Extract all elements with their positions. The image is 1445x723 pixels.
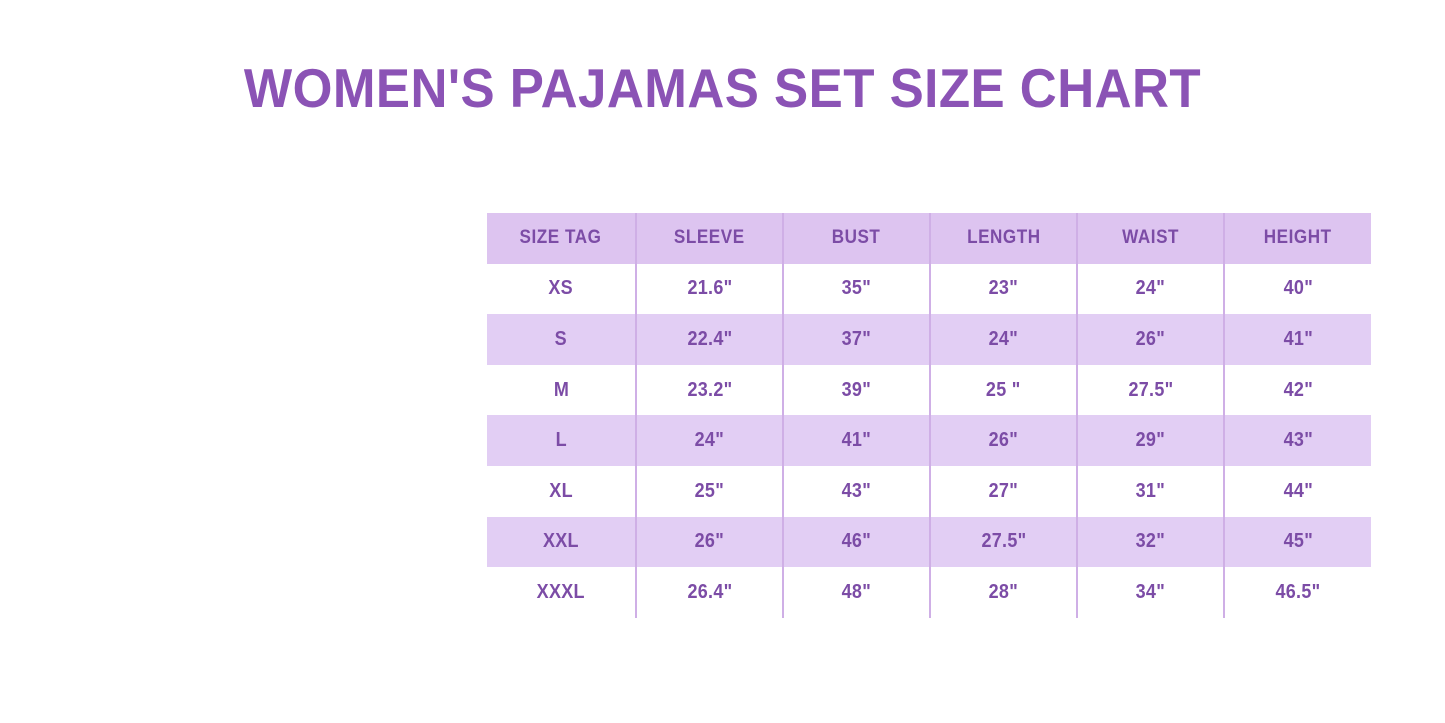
column-header-label: WAIST <box>1122 227 1179 249</box>
cell-bust: 41" <box>783 415 930 466</box>
size-chart-table: SIZE TAG SLEEVE BUST LENGTH WAIST HEIGHT… <box>487 213 1371 618</box>
cell-value: 39" <box>842 379 871 402</box>
table-row: S 22.4" 37" 24" 26" 41" <box>487 314 1371 365</box>
cell-value: L <box>555 429 566 452</box>
cell-length: 23" <box>930 264 1077 315</box>
cell-height: 41" <box>1224 314 1371 365</box>
cell-waist: 29" <box>1077 415 1224 466</box>
cell-value: 26" <box>989 429 1018 452</box>
cell-bust: 37" <box>783 314 930 365</box>
cell-value: 27" <box>989 480 1018 503</box>
cell-value: 48" <box>842 581 871 604</box>
cell-value: 46" <box>842 530 871 553</box>
cell-value: M <box>553 379 568 402</box>
cell-size-tag: XS <box>487 264 636 315</box>
cell-value: 35" <box>842 277 871 300</box>
cell-value: 41" <box>842 429 871 452</box>
cell-value: XXXL <box>537 581 585 604</box>
column-header-label: BUST <box>832 227 881 249</box>
cell-height: 43" <box>1224 415 1371 466</box>
cell-value: 24" <box>989 328 1018 351</box>
cell-sleeve: 23.2" <box>636 365 783 416</box>
cell-value: 46.5" <box>1276 581 1321 604</box>
cell-value: 22.4" <box>687 328 732 351</box>
cell-value: 26" <box>695 530 724 553</box>
cell-value: 29" <box>1136 429 1165 452</box>
cell-value: 42" <box>1283 379 1312 402</box>
cell-sleeve: 26.4" <box>636 567 783 618</box>
cell-bust: 35" <box>783 264 930 315</box>
cell-sleeve: 24" <box>636 415 783 466</box>
cell-height: 44" <box>1224 466 1371 517</box>
cell-size-tag: XL <box>487 466 636 517</box>
table-header-row: SIZE TAG SLEEVE BUST LENGTH WAIST HEIGHT <box>487 213 1371 264</box>
cell-value: 27.5" <box>981 530 1026 553</box>
column-header-label: HEIGHT <box>1264 227 1332 249</box>
table-header: SIZE TAG SLEEVE BUST LENGTH WAIST HEIGHT <box>487 213 1371 264</box>
cell-value: 26" <box>1136 328 1165 351</box>
cell-sleeve: 25" <box>636 466 783 517</box>
cell-value: 40" <box>1283 277 1312 300</box>
cell-length: 26" <box>930 415 1077 466</box>
cell-height: 46.5" <box>1224 567 1371 618</box>
table-row: L 24" 41" 26" 29" 43" <box>487 415 1371 466</box>
column-header-label: LENGTH <box>967 227 1041 249</box>
column-header-size-tag: SIZE TAG <box>487 213 636 264</box>
column-header-label: SLEEVE <box>674 227 745 249</box>
cell-value: 25 " <box>986 379 1021 402</box>
cell-value: 44" <box>1283 480 1312 503</box>
table-row: XXL 26" 46" 27.5" 32" 45" <box>487 517 1371 568</box>
cell-value: 28" <box>989 581 1018 604</box>
table-body: XS 21.6" 35" 23" 24" 40" S 22.4" 37" 24"… <box>487 264 1371 618</box>
cell-height: 42" <box>1224 365 1371 416</box>
cell-value: 45" <box>1283 530 1312 553</box>
cell-value: 21.6" <box>687 277 732 300</box>
cell-value: 27.5" <box>1128 379 1173 402</box>
table-row: M 23.2" 39" 25 " 27.5" 42" <box>487 365 1371 416</box>
cell-value: 43" <box>842 480 871 503</box>
cell-size-tag: XXL <box>487 517 636 568</box>
cell-value: XXL <box>543 530 579 553</box>
cell-sleeve: 22.4" <box>636 314 783 365</box>
cell-waist: 32" <box>1077 517 1224 568</box>
column-header-length: LENGTH <box>930 213 1077 264</box>
cell-bust: 48" <box>783 567 930 618</box>
table-row: XS 21.6" 35" 23" 24" 40" <box>487 264 1371 315</box>
cell-bust: 43" <box>783 466 930 517</box>
cell-bust: 46" <box>783 517 930 568</box>
cell-size-tag: M <box>487 365 636 416</box>
cell-length: 27.5" <box>930 517 1077 568</box>
cell-length: 27" <box>930 466 1077 517</box>
cell-value: S <box>555 328 567 351</box>
cell-waist: 34" <box>1077 567 1224 618</box>
column-header-bust: BUST <box>783 213 930 264</box>
cell-waist: 27.5" <box>1077 365 1224 416</box>
cell-sleeve: 26" <box>636 517 783 568</box>
cell-value: 26.4" <box>687 581 732 604</box>
cell-waist: 31" <box>1077 466 1224 517</box>
table-row: XL 25" 43" 27" 31" 44" <box>487 466 1371 517</box>
cell-sleeve: 21.6" <box>636 264 783 315</box>
cell-value: 32" <box>1136 530 1165 553</box>
size-chart-page: WOMEN'S PAJAMAS SET SIZE CHART SIZE TAG … <box>0 0 1445 723</box>
cell-value: 34" <box>1136 581 1165 604</box>
cell-value: 24" <box>695 429 724 452</box>
cell-size-tag: L <box>487 415 636 466</box>
cell-value: 41" <box>1283 328 1312 351</box>
cell-value: 23" <box>989 277 1018 300</box>
cell-value: XL <box>549 480 573 503</box>
cell-length: 25 " <box>930 365 1077 416</box>
cell-length: 28" <box>930 567 1077 618</box>
cell-value: 31" <box>1136 480 1165 503</box>
cell-value: 37" <box>842 328 871 351</box>
column-header-height: HEIGHT <box>1224 213 1371 264</box>
cell-height: 45" <box>1224 517 1371 568</box>
cell-value: XS <box>549 277 574 300</box>
cell-length: 24" <box>930 314 1077 365</box>
column-header-label: SIZE TAG <box>520 227 602 249</box>
cell-value: 43" <box>1283 429 1312 452</box>
cell-value: 23.2" <box>687 379 732 402</box>
cell-value: 25" <box>695 480 724 503</box>
cell-waist: 24" <box>1077 264 1224 315</box>
column-header-sleeve: SLEEVE <box>636 213 783 264</box>
cell-value: 24" <box>1136 277 1165 300</box>
cell-bust: 39" <box>783 365 930 416</box>
cell-size-tag: XXXL <box>487 567 636 618</box>
table-row: XXXL 26.4" 48" 28" 34" 46.5" <box>487 567 1371 618</box>
cell-height: 40" <box>1224 264 1371 315</box>
page-title: WOMEN'S PAJAMAS SET SIZE CHART <box>51 57 1395 119</box>
column-header-waist: WAIST <box>1077 213 1224 264</box>
cell-size-tag: S <box>487 314 636 365</box>
cell-waist: 26" <box>1077 314 1224 365</box>
